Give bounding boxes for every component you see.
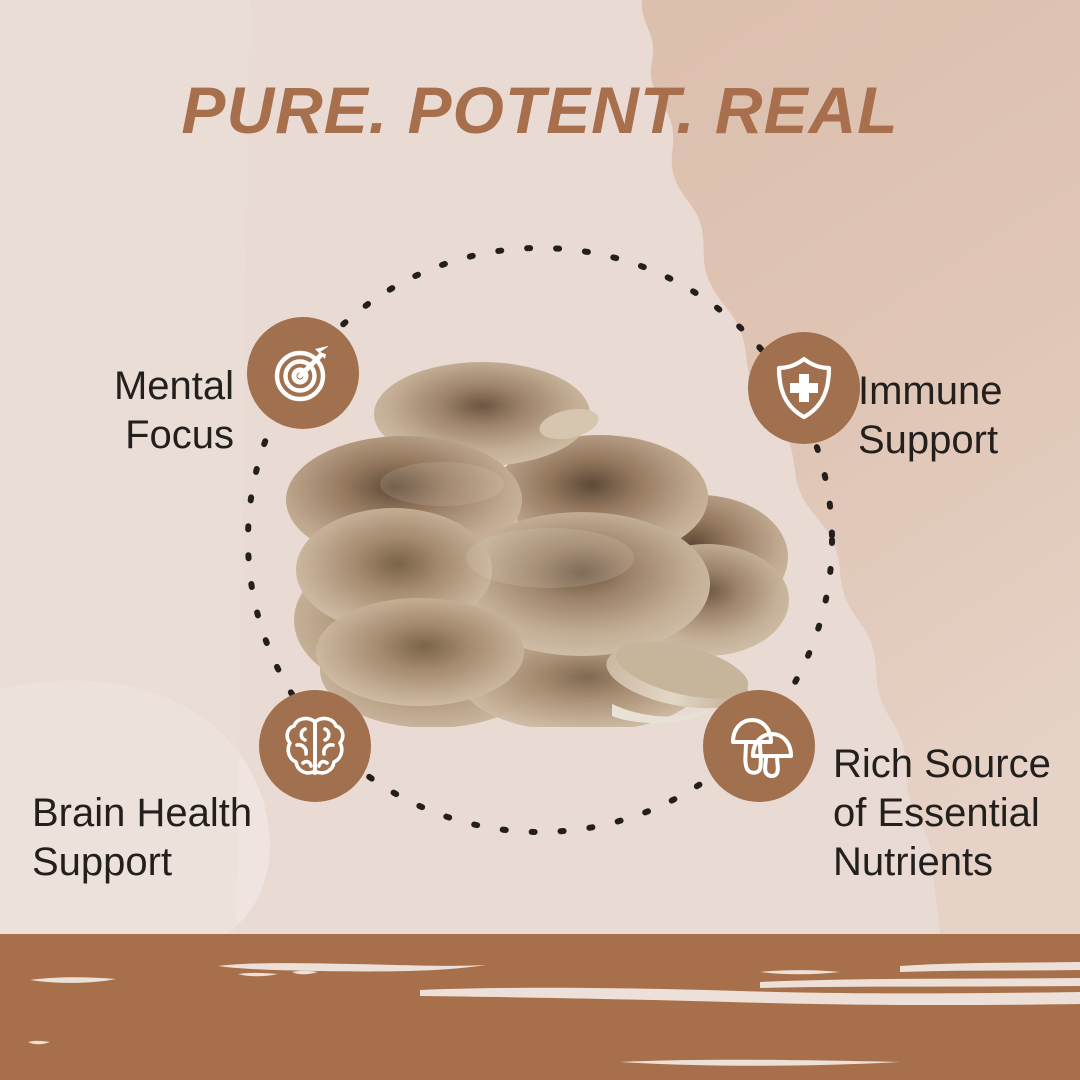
mushroom-front-stem	[765, 756, 778, 776]
brain-icon	[283, 713, 347, 779]
shield-cross-icon	[773, 355, 835, 421]
mushroom-back	[733, 720, 771, 742]
label-rich-source-of-essential-nutrients: Rich Source of Essential Nutrients	[833, 740, 1051, 886]
poster-canvas: PURE. POTENT. REAL	[0, 0, 1080, 1080]
label-mental-focus: Mental Focus	[114, 362, 234, 460]
badge-rich-source-of-essential-nutrients[interactable]	[703, 690, 815, 802]
label-brain-health-support: Brain Health Support	[32, 789, 252, 887]
badge-mental-focus[interactable]	[247, 317, 359, 429]
oyster-mushroom-cluster-photo	[282, 352, 792, 727]
mushrooms-icon	[725, 714, 793, 778]
bottom-brown-band	[0, 934, 1080, 1080]
target-arrow-icon	[270, 340, 336, 406]
badge-brain-health-support[interactable]	[259, 690, 371, 802]
medical-cross	[790, 374, 818, 402]
mushroom-cap	[316, 598, 524, 706]
label-immune-support: Immune Support	[858, 367, 1003, 465]
page-title: PURE. POTENT. REAL	[0, 72, 1080, 148]
badge-immune-support[interactable]	[748, 332, 860, 444]
